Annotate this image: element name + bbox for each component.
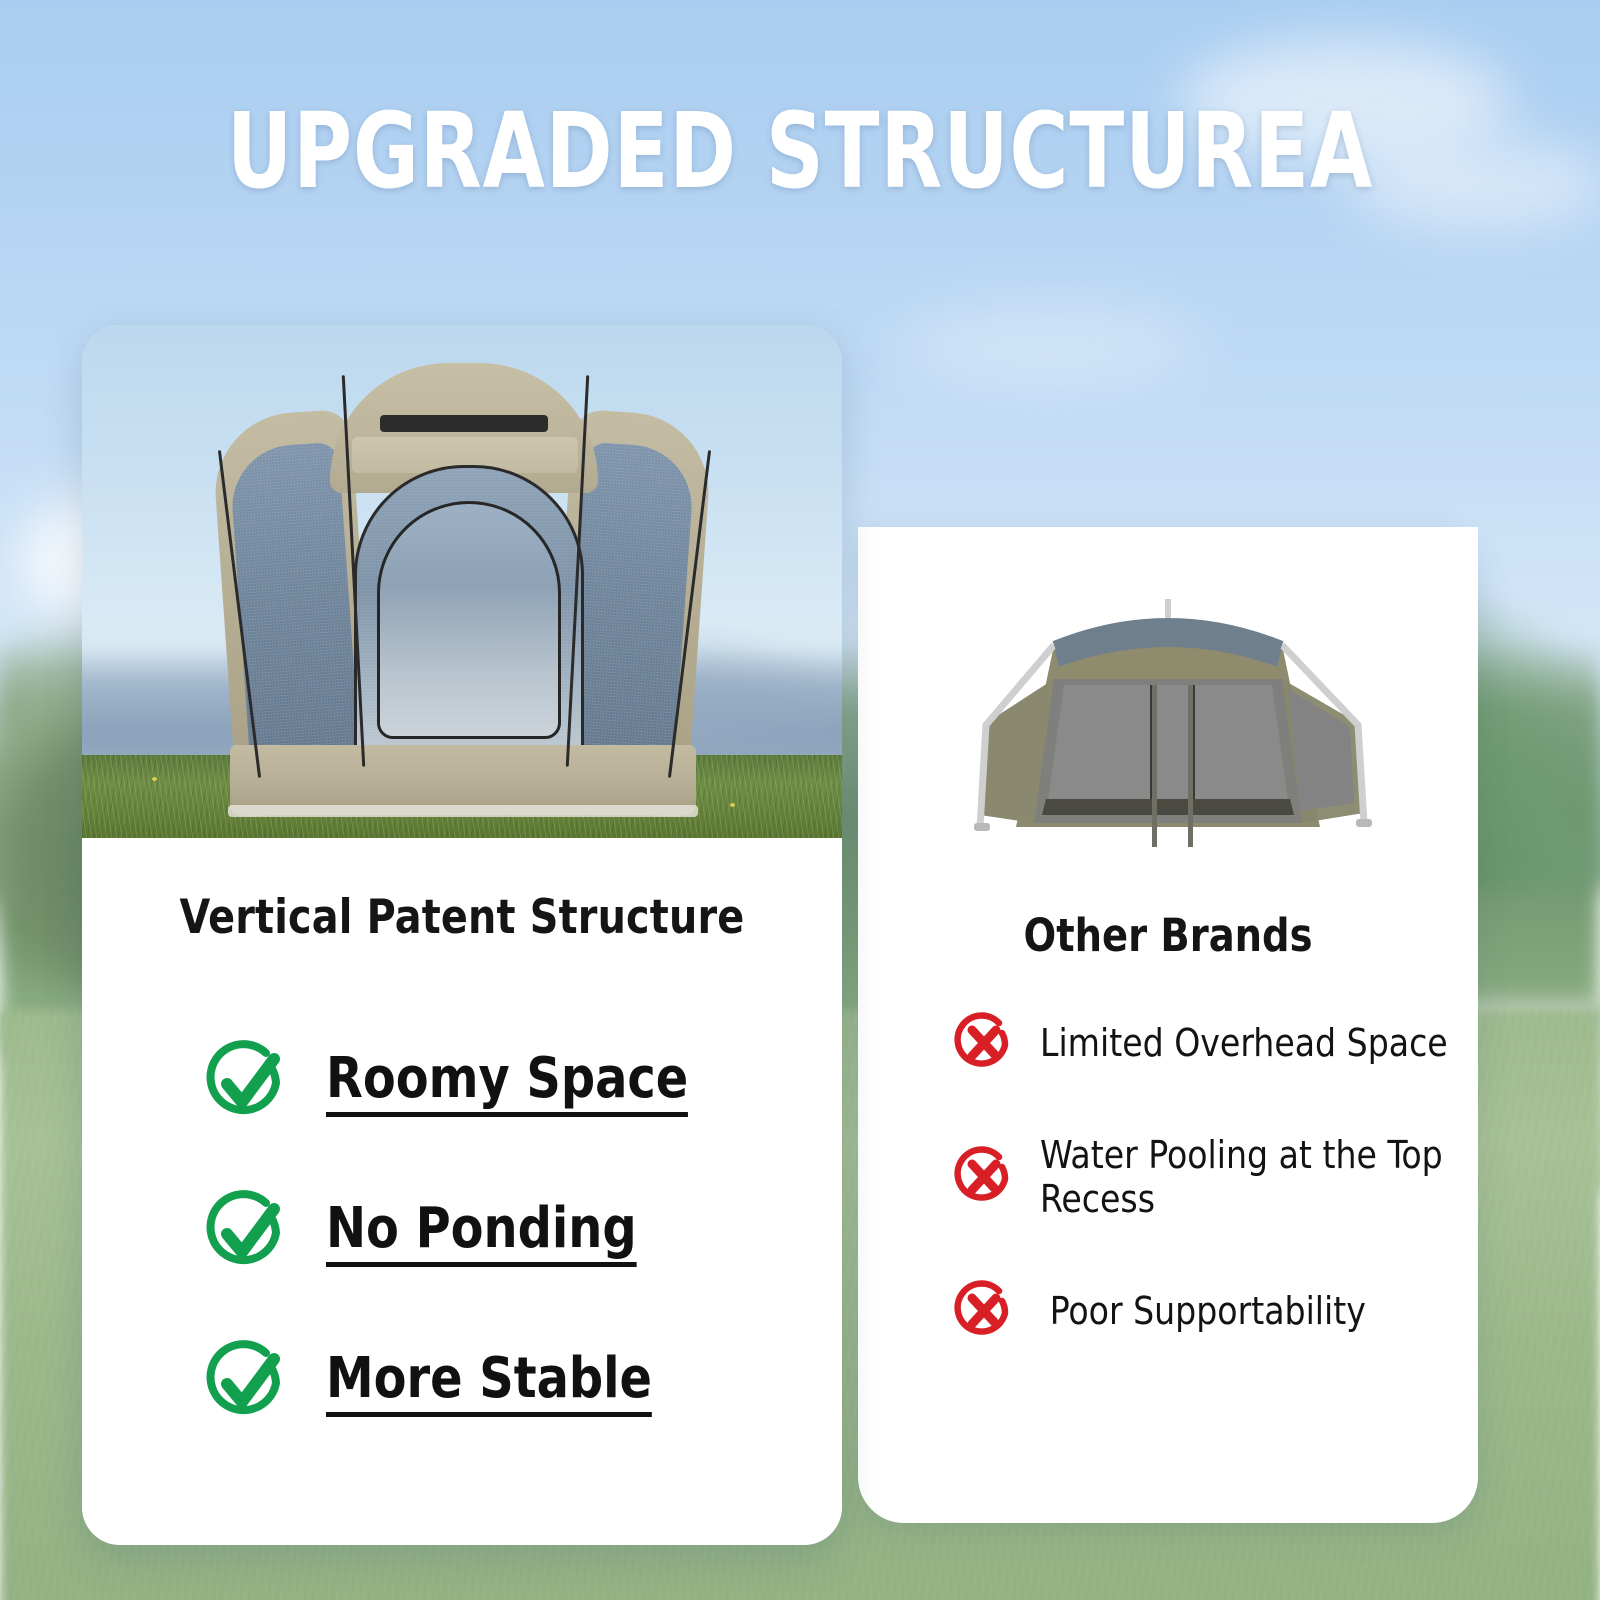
list-item-label: More Stable	[326, 1349, 652, 1416]
list-item: More Stable	[200, 1308, 800, 1458]
other-brands-list: Limited Overhead Space Water Pooling at …	[950, 1009, 1470, 1401]
other-brands-product-image	[858, 527, 1478, 887]
pop-up-tent-illustration	[202, 353, 722, 813]
product-image	[82, 325, 842, 838]
cloud	[900, 300, 1200, 390]
list-item: No Ponding	[200, 1158, 800, 1308]
cross-circle-icon	[950, 1009, 1018, 1077]
list-item-label: Roomy Space	[326, 1049, 688, 1116]
other-brands-card: Other Brands Limited Overhead Space W	[858, 527, 1478, 1523]
list-item: Limited Overhead Space	[950, 1009, 1470, 1077]
other-brands-heading: Other Brands	[874, 909, 1463, 962]
list-item-label: Poor Supportability	[1040, 1289, 1366, 1333]
list-item: Roomy Space	[200, 1008, 800, 1158]
check-circle-icon	[200, 1187, 292, 1279]
list-item: Poor Supportability	[950, 1277, 1470, 1345]
page-title: UPGRADED STRUCTUREA	[112, 96, 1488, 206]
benefits-list: Roomy Space No Ponding	[200, 1008, 800, 1458]
list-item-label: No Ponding	[326, 1199, 637, 1266]
vertical-patent-structure-heading: Vertical Patent Structure	[105, 890, 819, 945]
cross-circle-icon	[950, 1277, 1018, 1345]
check-circle-icon	[200, 1037, 292, 1129]
vertical-patent-structure-card: Vertical Patent Structure Roomy Space	[82, 325, 842, 1545]
check-circle-icon	[200, 1337, 292, 1429]
screen-house-canopy-illustration	[858, 527, 1478, 887]
vertical-patent-structure-body: Vertical Patent Structure Roomy Space	[82, 838, 842, 1545]
list-item-label: Water Pooling at the Top Recess	[1040, 1133, 1457, 1221]
cross-circle-icon	[950, 1143, 1018, 1211]
list-item-label: Limited Overhead Space	[1040, 1021, 1448, 1065]
list-item: Water Pooling at the Top Recess	[950, 1133, 1470, 1221]
